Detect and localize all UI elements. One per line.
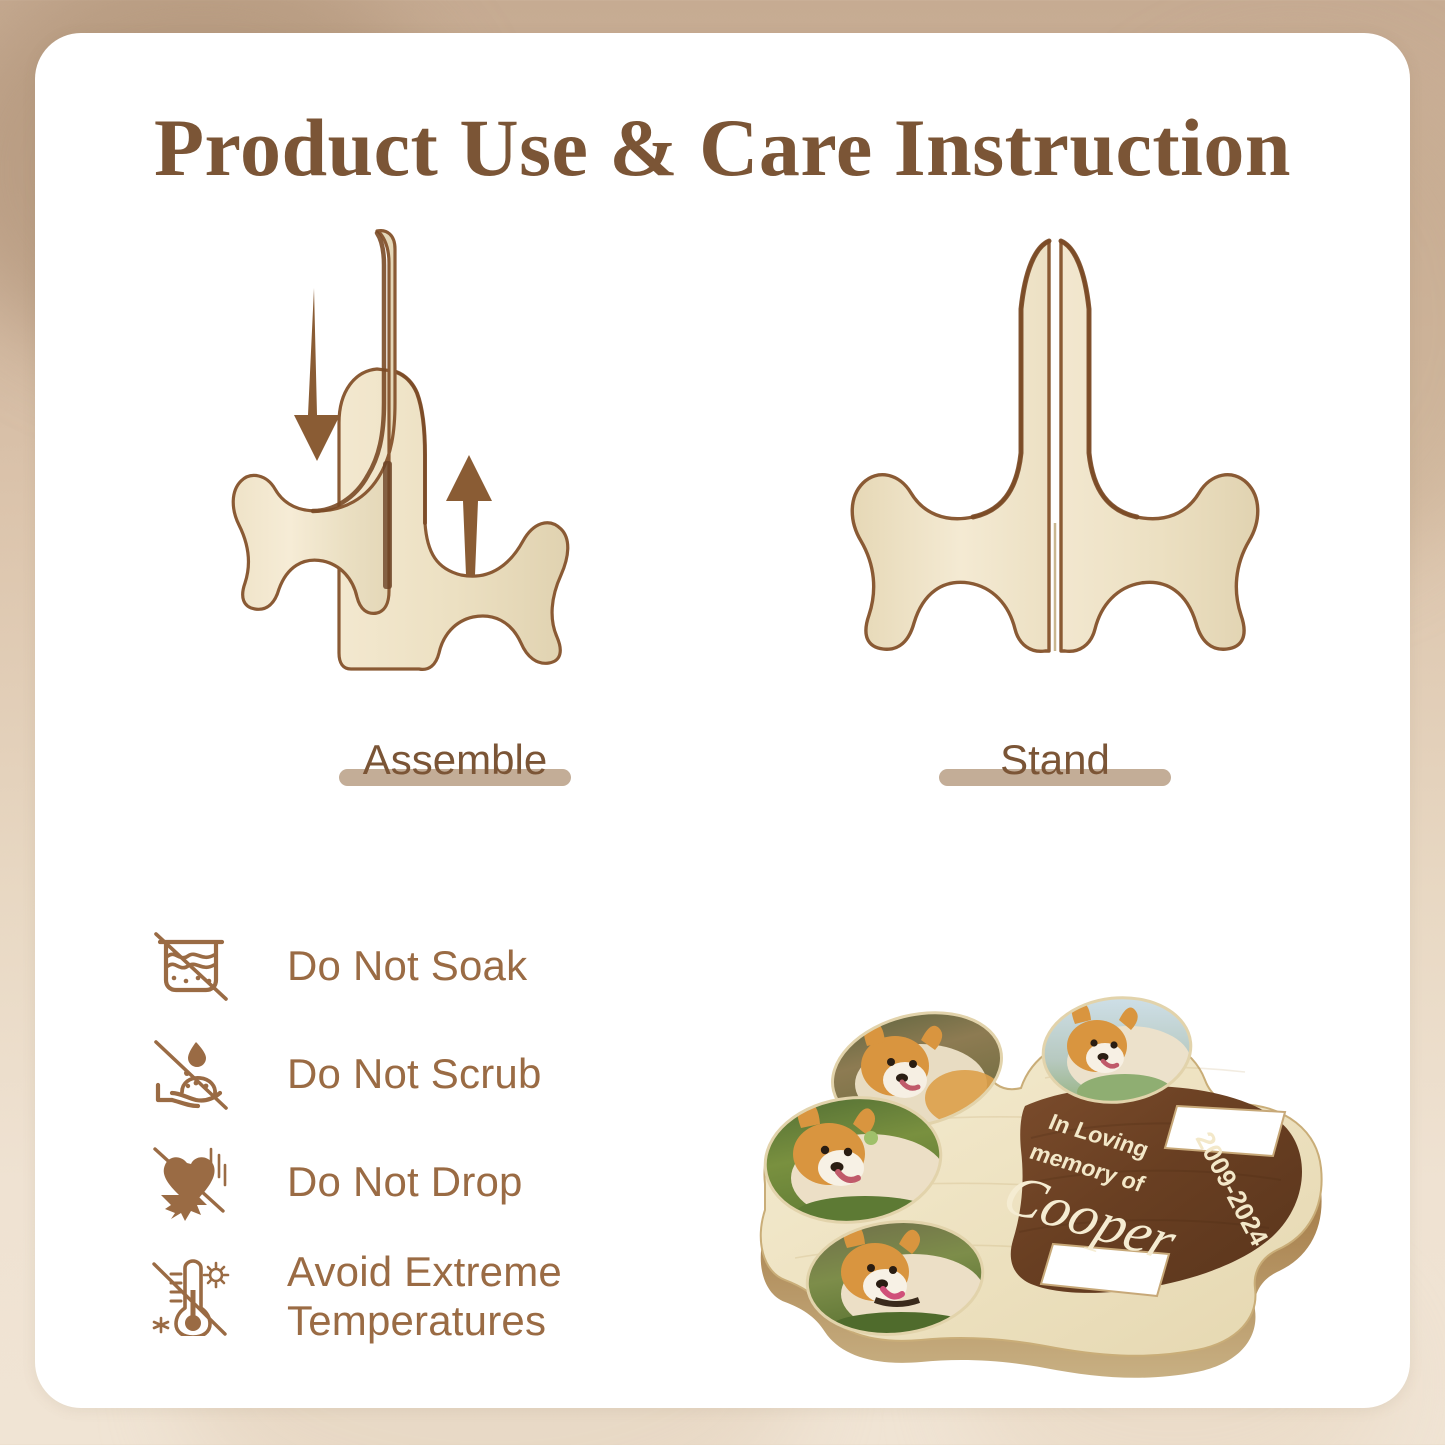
caption-label: Assemble — [363, 739, 547, 781]
diagram-stand: Stand — [795, 223, 1315, 823]
care-row: Do Not Drop — [143, 1139, 663, 1225]
instruction-card: Product Use & Care Instruction — [35, 33, 1410, 1408]
caption-label: Stand — [1000, 739, 1110, 781]
care-instruction-list: Do Not Soak Do Not Scrub — [143, 923, 663, 1367]
care-row: Avoid ExtremeTemperatures — [143, 1247, 663, 1345]
caption-stand: Stand — [795, 739, 1315, 781]
easel-half-right — [1061, 241, 1258, 651]
care-label: Do Not Drop — [287, 1157, 523, 1206]
no-drop-icon — [143, 1139, 239, 1225]
caption-assemble: Assemble — [205, 739, 705, 781]
diagram-section: Assemble — [35, 223, 1410, 823]
easel-half-left — [852, 241, 1049, 651]
diagram-assemble: Assemble — [205, 223, 705, 823]
paw-shaped-memorial-photo-frame: In Loving memory of Cooper 2009-2024 — [725, 988, 1355, 1378]
arrow-up-icon — [446, 455, 492, 575]
easel-assembled-diagram — [795, 223, 1315, 743]
care-label: Avoid ExtremeTemperatures — [287, 1247, 562, 1345]
care-label: Do Not Soak — [287, 941, 527, 990]
page-title: Product Use & Care Instruction — [35, 101, 1410, 195]
no-scrub-icon — [143, 1031, 239, 1117]
avoid-temperature-icon — [143, 1253, 239, 1339]
no-soak-icon — [143, 923, 239, 1009]
care-label-line1: Avoid ExtremeTemperatures — [287, 1247, 562, 1345]
product-photo: In Loving memory of Cooper 2009-2024 — [725, 988, 1355, 1378]
easel-assembly-diagram — [205, 223, 705, 743]
care-row: Do Not Soak — [143, 923, 663, 1009]
arrow-down-icon — [294, 288, 340, 461]
care-label: Do Not Scrub — [287, 1049, 542, 1098]
care-row: Do Not Scrub — [143, 1031, 663, 1117]
